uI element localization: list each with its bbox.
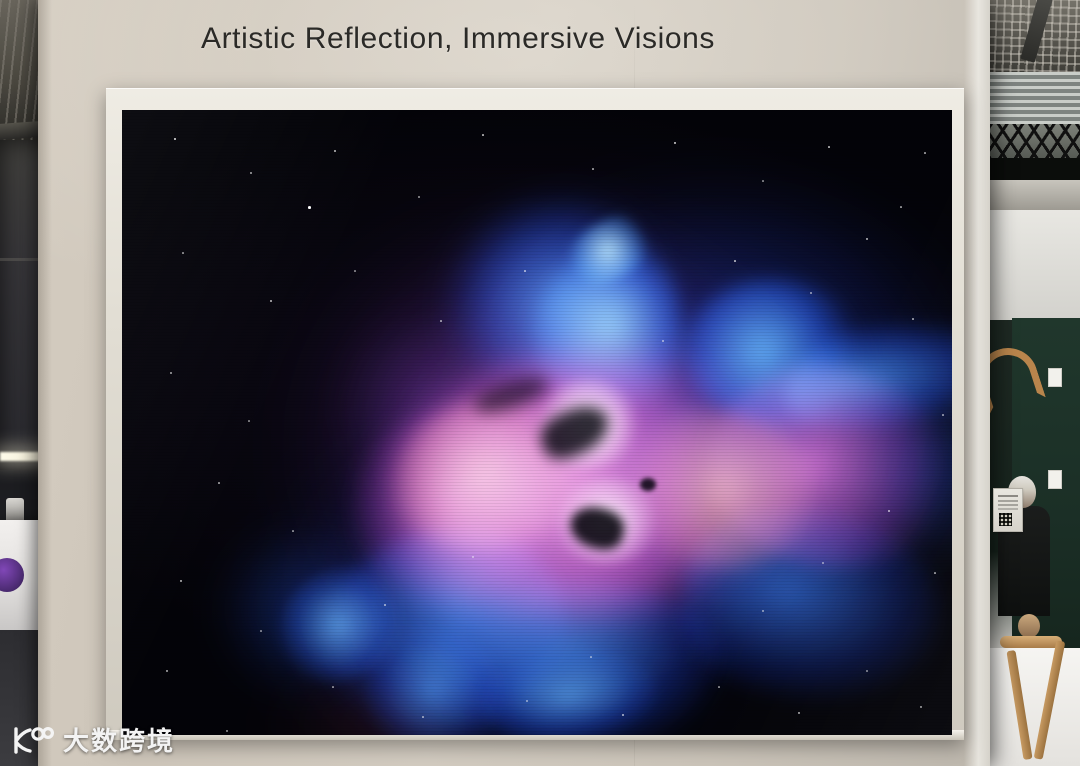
white-table-right: [988, 648, 1080, 766]
star: [822, 562, 824, 564]
star: [734, 260, 736, 262]
visitor-secondary: [1018, 614, 1040, 638]
star: [592, 168, 594, 170]
star: [590, 656, 592, 658]
qr-code-icon[interactable]: [999, 513, 1012, 526]
star: [900, 206, 902, 208]
star: [440, 320, 442, 322]
star: [308, 206, 311, 209]
watermark-text: 大数跨境: [63, 721, 175, 758]
star: [174, 138, 176, 140]
star: [422, 716, 424, 718]
signage-title: Artistic Reflection, Immersive Visions: [38, 22, 878, 56]
star: [226, 730, 228, 732]
star: [888, 510, 890, 512]
star: [762, 610, 764, 612]
star: [270, 300, 272, 302]
light-wall-right: [988, 210, 1080, 320]
star-field: [122, 110, 952, 735]
star: [934, 572, 936, 574]
wall-edge-right-highlight: [964, 0, 990, 766]
star: [662, 340, 664, 342]
star: [866, 670, 868, 672]
star: [166, 670, 168, 672]
star: [866, 238, 868, 240]
star: [472, 556, 474, 558]
star: [260, 630, 262, 632]
star: [526, 700, 528, 702]
green-wall-placard-1[interactable]: [1048, 368, 1062, 387]
star: [170, 372, 172, 374]
star: [250, 172, 252, 174]
star: [482, 134, 484, 136]
star: [924, 152, 926, 154]
ceiling-truss-right: [988, 124, 1080, 158]
green-wall-placard-2[interactable]: [1048, 470, 1062, 489]
star: [622, 714, 624, 716]
star: [182, 252, 184, 254]
star: [218, 482, 220, 484]
star: [334, 150, 336, 152]
star: [798, 712, 800, 714]
ceiling-louvers: [988, 72, 1080, 124]
screenshot-root: Artistic Reflection, Immersive Visions: [0, 0, 1080, 766]
star: [384, 604, 386, 606]
star: [762, 180, 764, 182]
wall-info-placard[interactable]: [993, 488, 1023, 532]
star: [418, 196, 420, 198]
kuajing-logo-icon: [10, 725, 54, 755]
star: [810, 292, 812, 294]
star: [248, 420, 250, 422]
watermark: 大数跨境: [10, 721, 175, 758]
star: [942, 414, 944, 416]
star: [920, 706, 922, 708]
wall-edge-left-shadow: [38, 0, 52, 766]
star: [674, 142, 676, 144]
upper-wall-band: [988, 180, 1080, 210]
star: [828, 146, 830, 148]
led-screen[interactable]: [122, 110, 952, 735]
star: [332, 686, 334, 688]
wooden-stool-seat: [1000, 636, 1062, 648]
star: [912, 318, 914, 320]
star: [524, 270, 526, 272]
hall-shadow-band: [988, 158, 1080, 180]
placard-text-lines: [998, 495, 1018, 497]
star: [718, 686, 720, 688]
star: [292, 530, 294, 532]
star: [180, 580, 182, 582]
star: [354, 270, 356, 272]
